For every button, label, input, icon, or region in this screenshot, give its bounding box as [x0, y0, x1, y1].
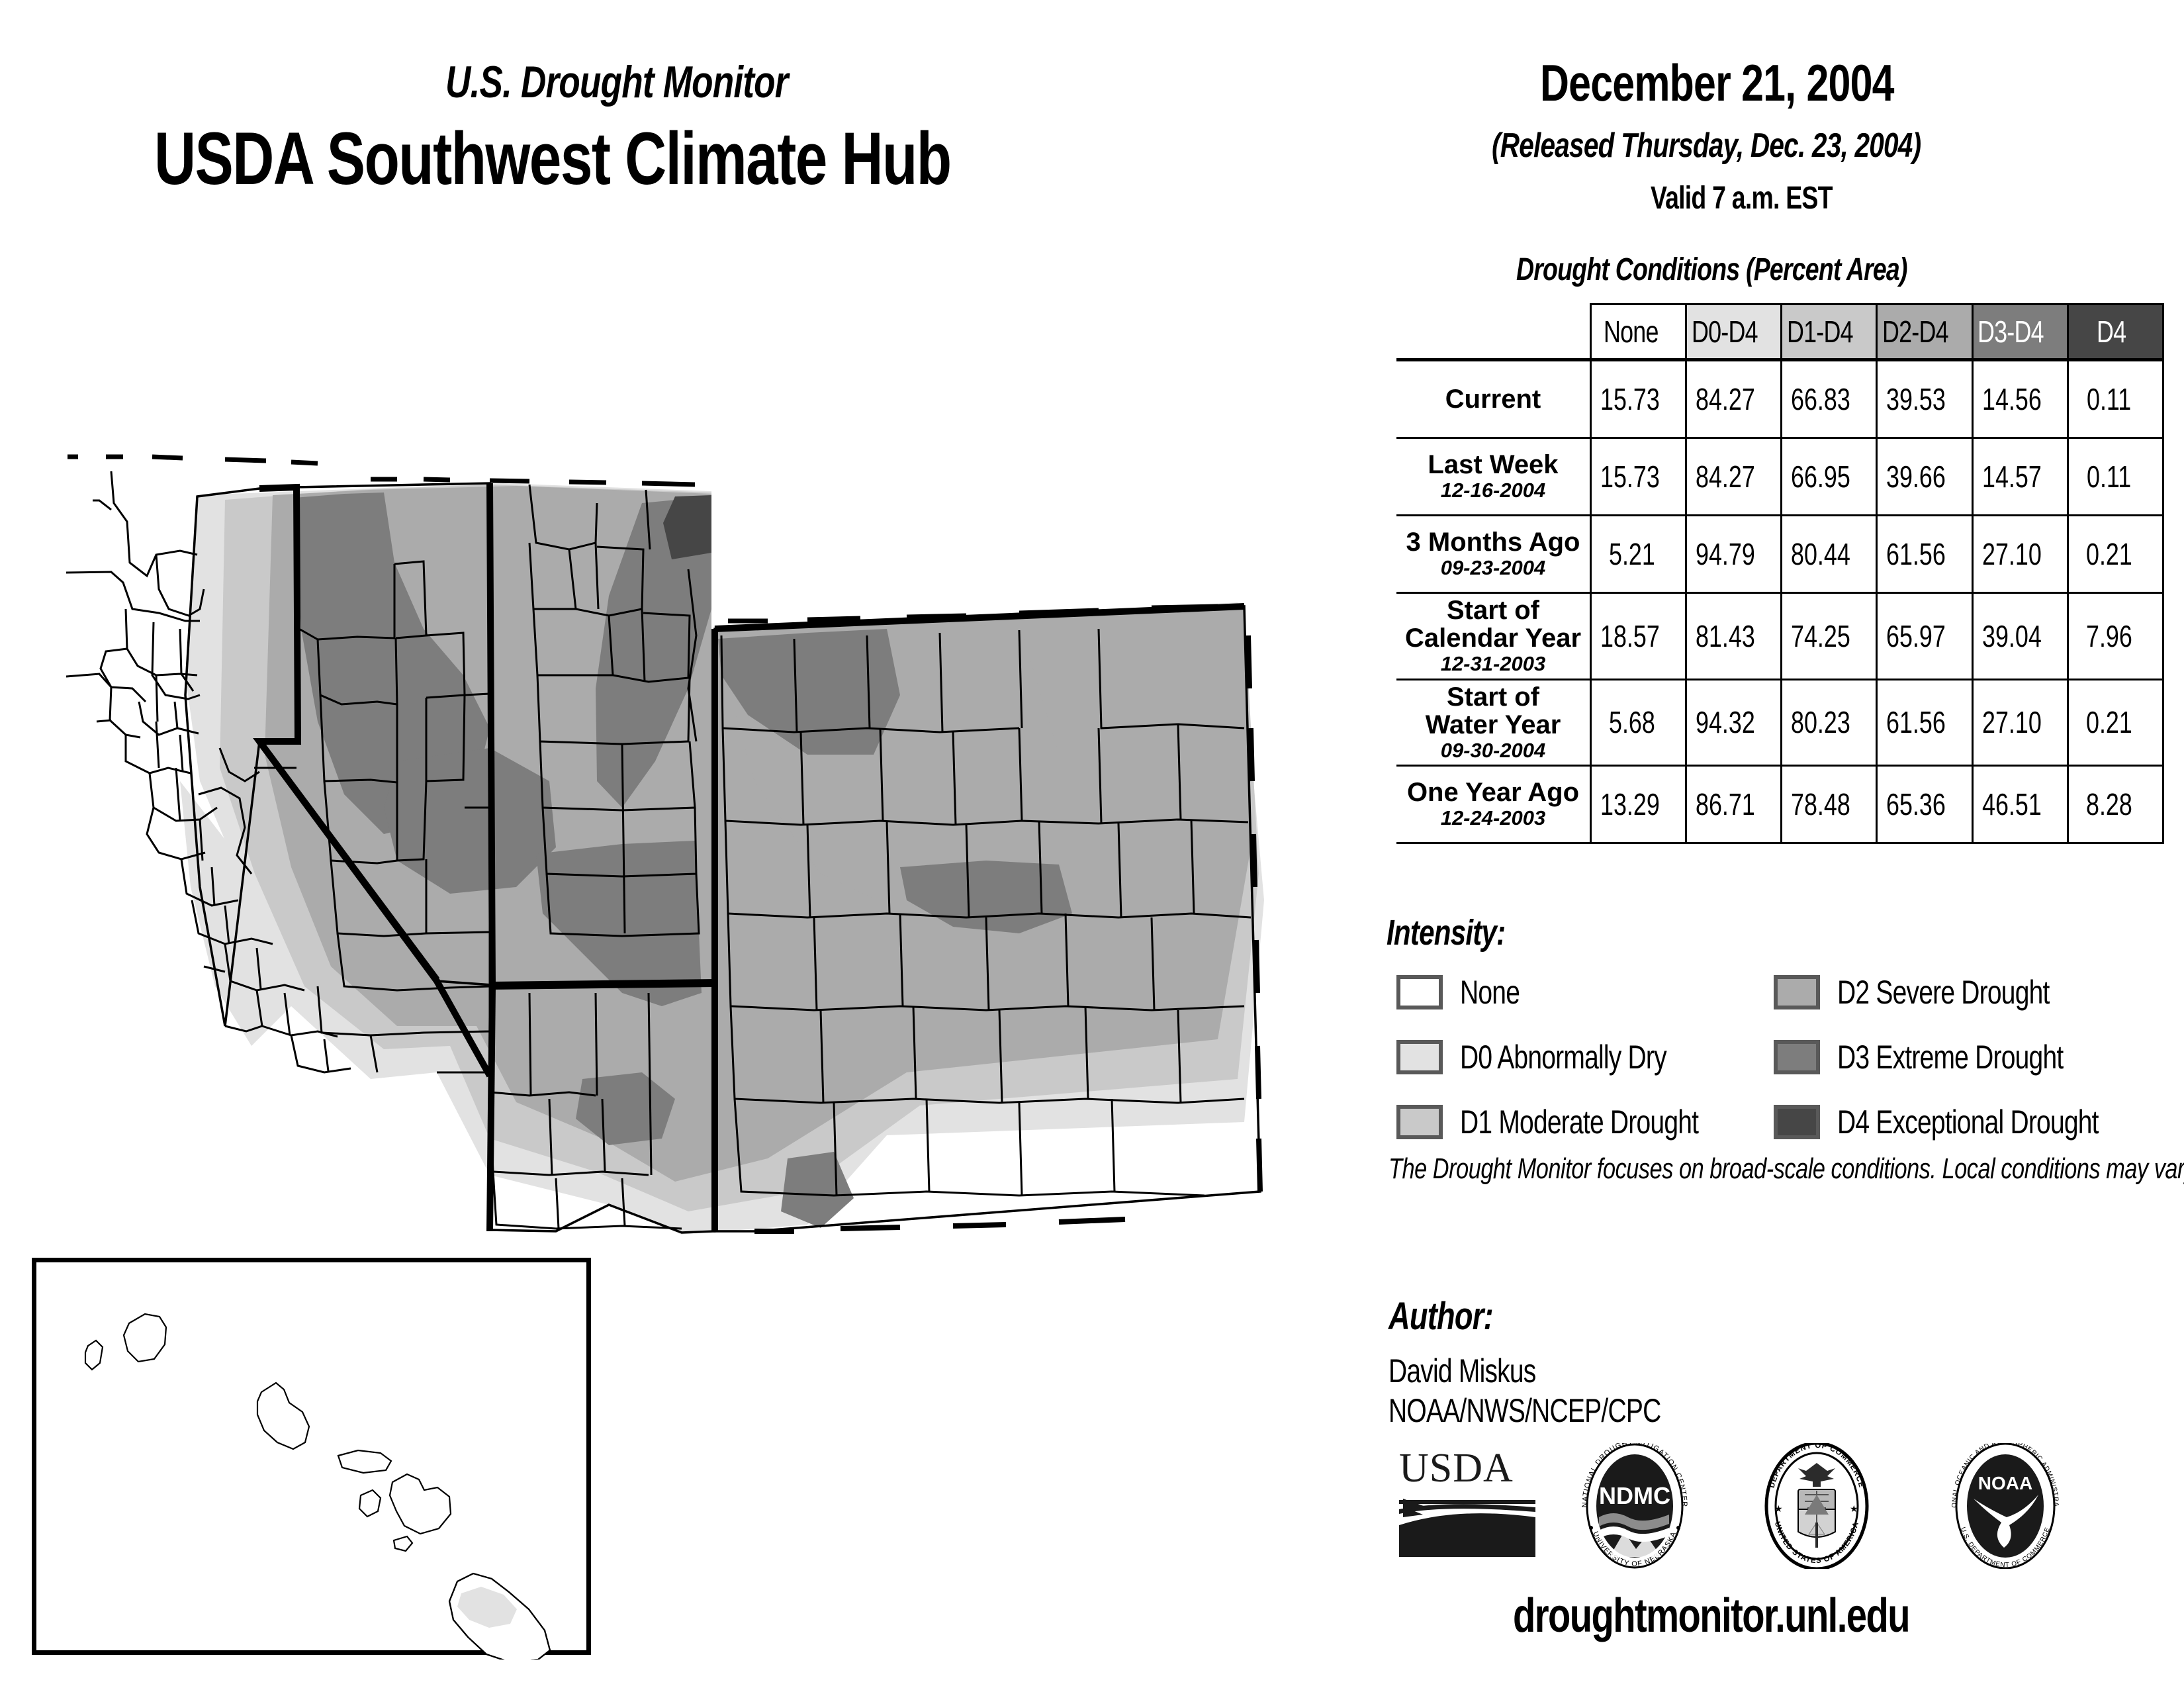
table-cell: 0.11 — [2068, 360, 2163, 438]
valid-time-text: Valid 7 a.m. EST — [1651, 180, 1833, 216]
drought-map[interactable] — [26, 410, 1324, 1244]
author-name-text: David Miskus — [1388, 1352, 1536, 1390]
table-cell: 80.44 — [1782, 516, 1877, 593]
table-cell: 15.73 — [1591, 438, 1686, 516]
table-row: Start ofCalendar Year12-31-200318.5781.4… — [1396, 593, 2163, 680]
legend-item-d0: D0 Abnormally Dry — [1396, 1038, 1725, 1076]
table-cell: 61.56 — [1877, 516, 1972, 593]
table-cell: 14.56 — [1972, 360, 2068, 438]
table-col-header-d0-d4: D0-D4 — [1686, 305, 1782, 360]
legend-swatch — [1774, 1040, 1820, 1074]
table-col-header-none: None — [1591, 305, 1686, 360]
table-cell: 5.68 — [1591, 679, 1686, 766]
noaa-logo: NATIONAL OCEANIC AND ATMOSPHERIC ADMINIS… — [1946, 1443, 2065, 1569]
legend-label: D2 Severe Drought — [1837, 973, 2109, 1011]
usda-logo-text: USDA — [1399, 1446, 1514, 1491]
table-cell: 74.25 — [1782, 593, 1877, 680]
hawaii-inset-svg — [36, 1262, 596, 1660]
table-cell: 61.56 — [1877, 679, 1972, 766]
table-cell: 39.04 — [1972, 593, 2068, 680]
author-organization: NOAA/NWS/NCEP/CPC — [1388, 1391, 1738, 1430]
table-cell: 86.71 — [1686, 766, 1782, 843]
table-row-label: Current — [1396, 360, 1591, 438]
table-cell: 15.73 — [1591, 360, 1686, 438]
table-cell: 18.57 — [1591, 593, 1686, 680]
legend-label: D3 Extreme Drought — [1837, 1038, 2127, 1076]
release-date: December 21, 2004 — [1380, 53, 2154, 113]
drought-conditions-table: NoneD0-D4D1-D4D2-D4D3-D4D4 Current15.738… — [1396, 303, 2164, 844]
table-row-label: One Year Ago12-24-2003 — [1396, 766, 1591, 843]
table-cell: 94.32 — [1686, 679, 1782, 766]
table-row-date: 12-24-2003 — [1396, 806, 1590, 830]
legend-swatch — [1774, 975, 1820, 1009]
table-cell: 66.83 — [1782, 360, 1877, 438]
island-kahoolawe — [394, 1536, 412, 1551]
table-row-date: 12-31-2003 — [1396, 652, 1590, 676]
legend-label: D4 Exceptional Drought — [1837, 1103, 2172, 1141]
table-cell: 5.21 — [1591, 516, 1686, 593]
table-cell: 14.57 — [1972, 438, 2068, 516]
island-maui — [390, 1474, 451, 1534]
table-col-header-d4: D4 — [2068, 305, 2163, 360]
island-oahu — [257, 1383, 309, 1449]
island-molokai — [338, 1450, 391, 1473]
island-kauai — [124, 1314, 166, 1362]
author-name: David Miskus — [1388, 1352, 1577, 1390]
table-row-label: 3 Months Ago09-23-2004 — [1396, 516, 1591, 593]
author-heading-text: Author: — [1388, 1294, 1493, 1338]
table-header-row: NoneD0-D4D1-D4D2-D4D3-D4D4 — [1396, 305, 2163, 360]
page-title-program: U.S. Drought Monitor — [0, 56, 1330, 108]
intensity-legend: NoneD0 Abnormally DryD1 Moderate Drought… — [1396, 973, 2164, 1145]
table-row-date: 09-23-2004 — [1396, 556, 1590, 580]
table-cell: 13.29 — [1591, 766, 1686, 843]
table-cell: 80.23 — [1782, 679, 1877, 766]
legend-swatch — [1396, 975, 1443, 1009]
table-row-date: 09-30-2004 — [1396, 739, 1590, 763]
table-caption-text: Drought Conditions (Percent Area) — [1516, 252, 1907, 288]
table-cell: 0.21 — [2068, 679, 2163, 766]
region-title-text: USDA Southwest Climate Hub — [154, 116, 951, 201]
table-cell: 46.51 — [1972, 766, 2068, 843]
table-cell: 65.97 — [1877, 593, 1972, 680]
legend-swatch — [1396, 1105, 1443, 1139]
legend-item-d4: D4 Exceptional Drought — [1774, 1103, 2172, 1141]
intensity-legend-title: Intensity: — [1387, 912, 1539, 953]
table-row: Current15.7384.2766.8339.5314.560.11 — [1396, 360, 2163, 438]
island-lanai — [359, 1490, 381, 1517]
table-row-date: 12-16-2004 — [1396, 479, 1590, 502]
table-cell: 65.36 — [1877, 766, 1972, 843]
author-heading: Author: — [1388, 1294, 1522, 1338]
legend-label: None — [1460, 973, 1537, 1011]
table-col-header-d3-d4: D3-D4 — [1972, 305, 2068, 360]
legend-label: D0 Abnormally Dry — [1460, 1038, 1725, 1076]
legend-swatch — [1396, 1040, 1443, 1074]
website-url[interactable]: droughtmonitor.unl.edu — [1380, 1589, 2154, 1643]
drought-map-svg — [26, 410, 1324, 1244]
table-row: Start ofWater Year09-30-20045.6894.3280.… — [1396, 679, 2163, 766]
table-row-label: Last Week12-16-2004 — [1396, 438, 1591, 516]
program-title-text: U.S. Drought Monitor — [445, 56, 788, 108]
table-row-label: Start ofWater Year09-30-2004 — [1396, 679, 1591, 766]
table-body: Current15.7384.2766.8339.5314.560.11Last… — [1396, 360, 2163, 843]
disclaimer-text: The Drought Monitor focuses on broad-sca… — [1388, 1150, 2130, 1188]
svg-text:★: ★ — [1774, 1503, 1783, 1514]
disclaimer-body: The Drought Monitor focuses on broad-sca… — [1388, 1150, 2184, 1188]
usda-logo: USDA — [1396, 1443, 1539, 1559]
table-cell: 39.53 — [1877, 360, 1972, 438]
table-row-label: Start ofCalendar Year12-31-2003 — [1396, 593, 1591, 680]
legend-label: D1 Moderate Drought — [1460, 1103, 1766, 1141]
legend-swatch — [1774, 1105, 1820, 1139]
svg-text:★: ★ — [1850, 1503, 1858, 1514]
table-cell: 39.66 — [1877, 438, 1972, 516]
released-on: (Released Thursday, Dec. 23, 2004) — [1380, 126, 2154, 165]
table-cell: 27.10 — [1972, 516, 2068, 593]
legend-item-d1: D1 Moderate Drought — [1396, 1103, 1766, 1141]
table-corner-cell — [1396, 305, 1591, 360]
svg-text:NDMC: NDMC — [1599, 1482, 1670, 1509]
table-cell: 27.10 — [1972, 679, 2068, 766]
released-on-text: (Released Thursday, Dec. 23, 2004) — [1492, 126, 1921, 165]
table-cell: 7.96 — [2068, 593, 2163, 680]
table-cell: 81.43 — [1686, 593, 1782, 680]
table-row: One Year Ago12-24-200313.2986.7178.4865.… — [1396, 766, 2163, 843]
table-cell: 8.28 — [2068, 766, 2163, 843]
table-cell: 0.11 — [2068, 438, 2163, 516]
website-url-text: droughtmonitor.unl.edu — [1513, 1589, 1909, 1643]
hawaii-inset[interactable] — [32, 1258, 591, 1655]
table-cell: 84.27 — [1686, 360, 1782, 438]
legend-item-d2: D2 Severe Drought — [1774, 973, 2109, 1011]
department-of-commerce-logo: DEPARTMENT OF COMMERCE UNITED STATES OF … — [1757, 1443, 1876, 1569]
release-date-text: December 21, 2004 — [1540, 53, 1894, 113]
svg-text:NOAA: NOAA — [1978, 1473, 2032, 1493]
ndmc-logo: NATIONAL DROUGHT MITIGATION CENTER UNIVE… — [1575, 1443, 1694, 1569]
table-cell: 84.27 — [1686, 438, 1782, 516]
table-cell: 66.95 — [1782, 438, 1877, 516]
table-row: Last Week12-16-200415.7384.2766.9539.661… — [1396, 438, 2163, 516]
page-title-region: USDA Southwest Climate Hub — [0, 116, 1330, 201]
legend-item-d3: D3 Extreme Drought — [1774, 1038, 2127, 1076]
intensity-legend-title-text: Intensity: — [1387, 912, 1505, 953]
logo-strip: USDA NATIONAL DROUGHT MITIGATION CENTER … — [1396, 1443, 2158, 1569]
table-cell: 78.48 — [1782, 766, 1877, 843]
author-organization-text: NOAA/NWS/NCEP/CPC — [1388, 1391, 1661, 1430]
legend-item-none: None — [1396, 973, 1537, 1011]
table-row: 3 Months Ago09-23-20045.2194.7980.4461.5… — [1396, 516, 2163, 593]
table-cell: 0.21 — [2068, 516, 2163, 593]
table-col-header-d2-d4: D2-D4 — [1877, 305, 1972, 360]
valid-time: Valid 7 a.m. EST — [1380, 180, 2154, 216]
table-col-header-d1-d4: D1-D4 — [1782, 305, 1877, 360]
table-caption: Drought Conditions (Percent Area) — [1380, 252, 2154, 288]
island-niihau — [85, 1340, 103, 1370]
table-cell: 94.79 — [1686, 516, 1782, 593]
